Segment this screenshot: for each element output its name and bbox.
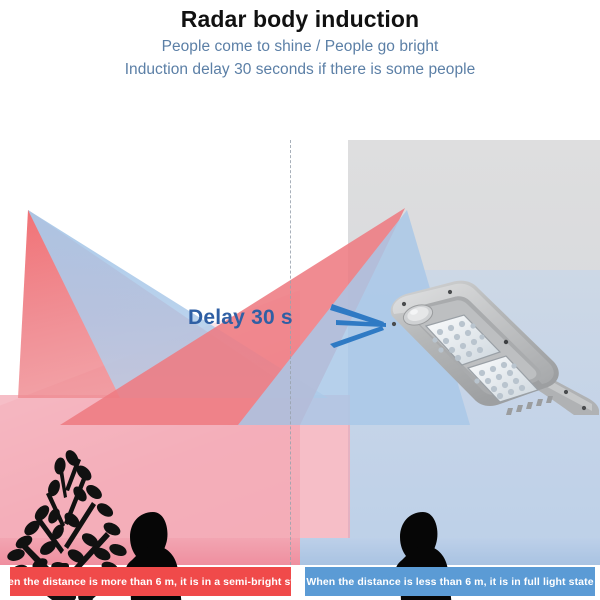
caption-semi-bright-text: When the distance is more than 6 m, it i… (0, 576, 309, 588)
caption-semi-bright: When the distance is more than 6 m, it i… (10, 567, 291, 596)
page-title: Radar body induction (0, 6, 600, 32)
caption-full-light: When the distance is less than 6 m, it i… (305, 567, 595, 596)
infographic-page: Radar body induction People come to shin… (0, 0, 600, 600)
subtitle-line-1: People come to shine / People go bright (0, 36, 600, 58)
subtitle-line-2: Induction delay 30 seconds if there is s… (0, 59, 600, 81)
caption-full-light-text: When the distance is less than 6 m, it i… (306, 576, 593, 588)
solar-street-lamp-icon (378, 280, 600, 415)
header: Radar body induction People come to shin… (0, 0, 600, 81)
delay-label: Delay 30 s (188, 306, 293, 330)
zone-divider-dashed-line (290, 140, 291, 570)
scene-illustration: Delay 30 s (0, 140, 600, 600)
